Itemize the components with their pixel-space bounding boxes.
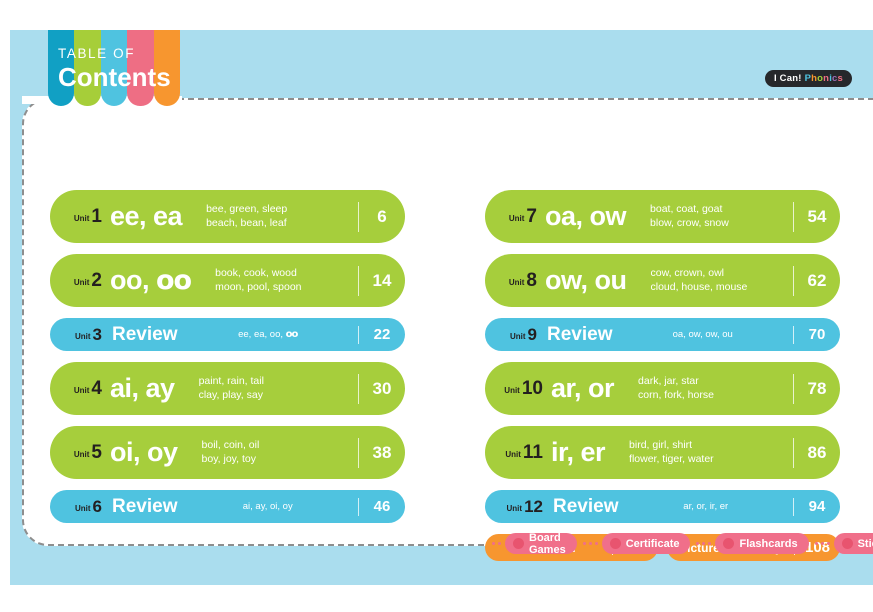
unit-number: 10 — [522, 378, 543, 400]
unit-example-words: boil, coin, oilboy, joy, toy — [178, 439, 358, 466]
unit-example-words: cow, crown, owlcloud, house, mouse — [626, 267, 793, 294]
bottom-tab-bar: Board GamesCertificateFlashcardsStickers — [488, 533, 873, 554]
unit-label-group: Unit5 — [50, 442, 102, 464]
unit-label-group: Unit8 — [485, 270, 537, 292]
unit-title: oo, oo — [110, 265, 191, 296]
tab-bullet-icon — [723, 538, 734, 549]
unit-number: 3 — [93, 325, 102, 345]
unit-example-words: boat, coat, goatblow, crow, snow — [626, 203, 793, 230]
word-line: cow, crown, owl — [650, 267, 793, 281]
word-line: flower, tiger, water — [629, 453, 793, 467]
tab-dots-sep-1 — [696, 542, 711, 545]
unit-label-group: Unit4 — [50, 378, 102, 400]
word-line: dark, jar, star — [638, 375, 793, 389]
tab-label: Certificate — [626, 538, 680, 550]
unit-word: Unit — [74, 278, 90, 287]
page-number: 22 — [359, 326, 405, 343]
unit-example-words: ee, ea, oo, oo — [177, 328, 358, 342]
page-number: 86 — [794, 443, 840, 463]
page-number: 62 — [794, 271, 840, 291]
unit-title: Review — [112, 324, 177, 346]
logo-letter-6: s — [838, 73, 843, 84]
word-line: paint, rain, tail — [199, 375, 358, 389]
unit-row-9[interactable]: Unit9Reviewoa, ow, ow, ou70 — [485, 318, 840, 351]
unit-example-words: bee, green, sleepbeach, bean, leaf — [182, 203, 358, 230]
bottom-tab-certificate[interactable]: Certificate — [602, 533, 691, 554]
unit-number: 2 — [91, 270, 102, 292]
unit-row-4[interactable]: Unit4ai, aypaint, rain, tailclay, play, … — [50, 362, 405, 415]
unit-row-3[interactable]: Unit3Reviewee, ea, oo, oo22 — [50, 318, 405, 351]
unit-word: Unit — [505, 450, 521, 459]
unit-word: Unit — [509, 278, 525, 287]
unit-title: oa, ow — [545, 201, 626, 232]
logo-phonics-text: Phonics — [805, 73, 843, 84]
header-strip-2 — [74, 30, 100, 106]
unit-title: ow, ou — [545, 265, 626, 296]
unit-row-1[interactable]: Unit1ee, eabee, green, sleepbeach, bean,… — [50, 190, 405, 243]
word-emphasis: oo — [286, 329, 298, 340]
tab-dots-lead — [492, 542, 501, 545]
unit-title-emphasis: oo — [156, 265, 191, 296]
unit-title: ir, er — [551, 437, 605, 468]
unit-label-group: Unit2 — [50, 270, 102, 292]
word-line: bee, green, sleep — [206, 203, 358, 217]
unit-number: 6 — [93, 497, 102, 517]
word-line: book, cook, wood — [215, 267, 358, 281]
unit-number: 11 — [523, 442, 543, 464]
bottom-tab-flashcards[interactable]: Flashcards — [715, 533, 808, 554]
page-number: 54 — [794, 207, 840, 227]
unit-label-group: Unit12 — [485, 497, 543, 517]
unit-example-words: paint, rain, tailclay, play, say — [175, 375, 358, 402]
unit-title: ee, ea — [110, 201, 182, 232]
unit-word: Unit — [75, 504, 91, 513]
word-line: cloud, house, mouse — [650, 281, 793, 295]
header-strip-4 — [127, 30, 153, 106]
unit-example-words: book, cook, woodmoon, pool, spoon — [191, 267, 358, 294]
word-line: boy, joy, toy — [202, 453, 358, 467]
bottom-tab-stickers[interactable]: Stickers — [834, 533, 873, 554]
unit-label-group: Unit3 — [50, 325, 102, 345]
word-line: bird, girl, shirt — [629, 439, 793, 453]
brand-logo-badge: I Can! Phonics — [765, 70, 852, 87]
unit-example-words: ar, or, ir, er — [618, 500, 793, 514]
unit-label-group: Unit9 — [485, 325, 537, 345]
word-line: corn, fork, horse — [638, 389, 793, 403]
page-number: 94 — [794, 498, 840, 515]
unit-row-2[interactable]: Unit2oo, oobook, cook, woodmoon, pool, s… — [50, 254, 405, 307]
unit-example-words: dark, jar, starcorn, fork, horse — [614, 375, 793, 402]
tab-dots-sep-2 — [815, 542, 830, 545]
header-strip-1 — [48, 30, 74, 106]
left-unit-column: Unit1ee, eabee, green, sleepbeach, bean,… — [50, 190, 405, 534]
word-line: boat, coat, goat — [650, 203, 793, 217]
unit-title: Review — [547, 324, 612, 346]
unit-row-10[interactable]: Unit10ar, ordark, jar, starcorn, fork, h… — [485, 362, 840, 415]
header-color-strips — [48, 30, 180, 106]
unit-title: ai, ay — [110, 373, 175, 404]
unit-label-group: Unit7 — [485, 206, 537, 228]
unit-number: 5 — [91, 442, 102, 464]
unit-word: Unit — [507, 504, 523, 513]
page-number: 38 — [359, 443, 405, 463]
unit-word: Unit — [504, 386, 520, 395]
unit-word: Unit — [74, 450, 90, 459]
word-line: boil, coin, oil — [202, 439, 358, 453]
tab-label: Flashcards — [739, 538, 797, 550]
unit-example-words: bird, girl, shirtflower, tiger, water — [605, 439, 793, 466]
word-line: blow, crow, snow — [650, 217, 793, 231]
word-line: moon, pool, spoon — [215, 281, 358, 295]
unit-row-5[interactable]: Unit5oi, oyboil, coin, oilboy, joy, toy3… — [50, 426, 405, 479]
unit-label-group: Unit6 — [50, 497, 102, 517]
page-number: 30 — [359, 379, 405, 399]
unit-number: 7 — [526, 206, 537, 228]
logo-ican-text: I Can! — [774, 73, 802, 84]
unit-number: 12 — [524, 497, 543, 517]
right-unit-column: Unit7oa, owboat, coat, goatblow, crow, s… — [485, 190, 840, 561]
unit-title: Review — [112, 496, 177, 518]
page-number: 14 — [359, 271, 405, 291]
tab-bullet-icon — [513, 538, 524, 549]
tab-bullet-icon — [842, 538, 853, 549]
header-strip-5 — [154, 30, 180, 106]
page-number: 70 — [794, 326, 840, 343]
unit-title: ar, or — [551, 373, 614, 404]
unit-word: Unit — [509, 214, 525, 223]
unit-number: 4 — [91, 378, 102, 400]
unit-example-words: ai, ay, oi, oy — [177, 500, 358, 514]
unit-example-words: oa, ow, ow, ou — [612, 328, 793, 342]
unit-word: Unit — [74, 386, 90, 395]
unit-title: oi, oy — [110, 437, 178, 468]
unit-row-11[interactable]: Unit11ir, erbird, girl, shirtflower, tig… — [485, 426, 840, 479]
bottom-tab-board-games[interactable]: Board Games — [505, 533, 577, 554]
unit-label-group: Unit1 — [50, 206, 102, 228]
unit-number: 9 — [528, 325, 537, 345]
unit-row-7[interactable]: Unit7oa, owboat, coat, goatblow, crow, s… — [485, 190, 840, 243]
unit-word: Unit — [75, 332, 91, 341]
unit-number: 1 — [91, 206, 102, 228]
unit-row-12[interactable]: Unit12Reviewar, or, ir, er94 — [485, 490, 840, 523]
page-number: 46 — [359, 498, 405, 515]
page-number: 78 — [794, 379, 840, 399]
header-strip-3 — [101, 30, 127, 106]
unit-label-group: Unit11 — [485, 442, 543, 464]
unit-row-6[interactable]: Unit6Reviewai, ay, oi, oy46 — [50, 490, 405, 523]
unit-row-8[interactable]: Unit8ow, oucow, crown, owlcloud, house, … — [485, 254, 840, 307]
page-number: 6 — [359, 207, 405, 227]
tab-dots-sep-0 — [583, 542, 598, 545]
tab-label: Board Games — [529, 532, 566, 556]
unit-word: Unit — [74, 214, 90, 223]
unit-label-group: Unit10 — [485, 378, 543, 400]
page-root: TABLE OF Contents I Can! Phonics Unit1ee… — [0, 0, 873, 612]
unit-number: 8 — [526, 270, 537, 292]
tab-bullet-icon — [610, 538, 621, 549]
word-line: beach, bean, leaf — [206, 217, 358, 231]
word-line: clay, play, say — [199, 389, 358, 403]
tab-label: Stickers — [858, 538, 873, 550]
unit-word: Unit — [510, 332, 526, 341]
unit-title: Review — [553, 496, 618, 518]
